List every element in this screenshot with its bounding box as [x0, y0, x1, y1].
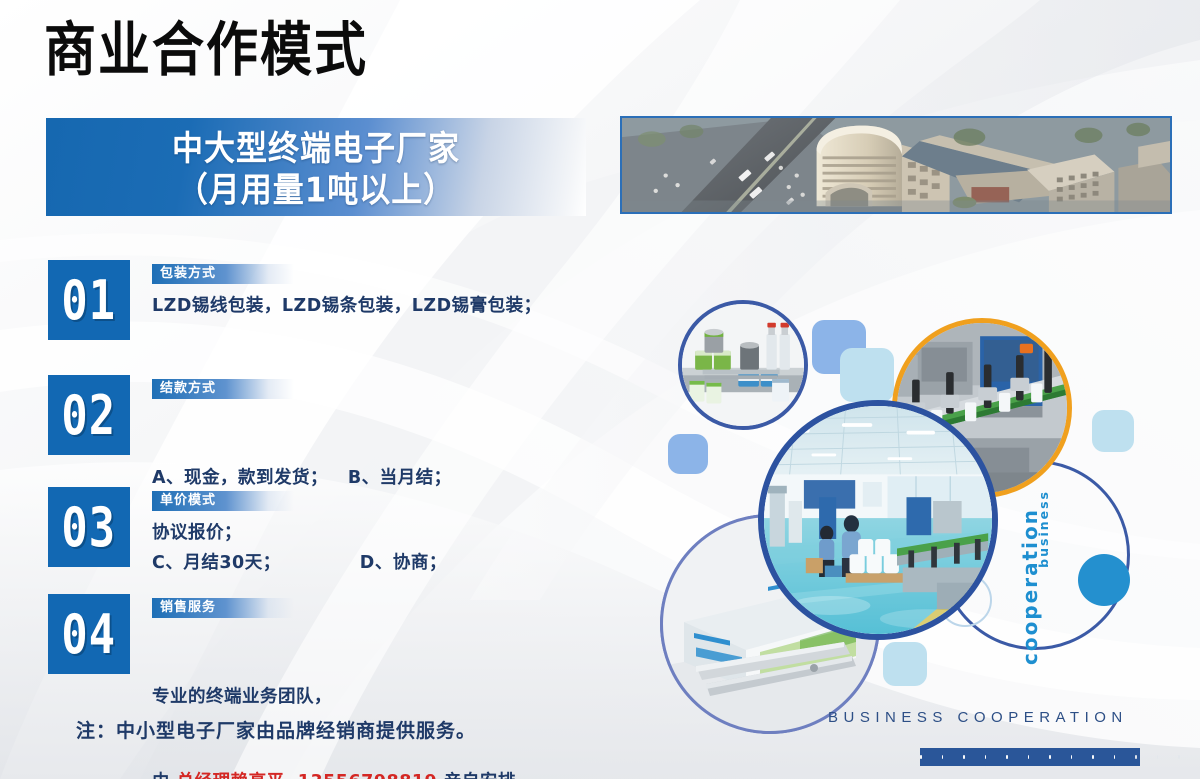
item-number: 04 [62, 602, 117, 666]
decorative-square-cyan-2 [1092, 410, 1134, 452]
dot [920, 755, 922, 759]
dot [963, 755, 965, 759]
item-number-box: 04 [48, 594, 130, 674]
item-number-box: 03 [48, 487, 130, 567]
dot [985, 755, 987, 759]
contact-phone: 13556798819 [298, 772, 437, 779]
banner-text-block: 中大型终端电子厂家 （月用量1吨以上） [86, 129, 546, 212]
product-circle-top [678, 300, 808, 430]
footnote: 注：中小型电子厂家由品牌经销商提供服务。 [76, 716, 476, 743]
item-number-box: 02 [48, 375, 130, 455]
item-number: 01 [62, 268, 117, 332]
decorative-dot-row [920, 748, 1200, 766]
item-body-line: C、月结30天； D、协商； [152, 549, 452, 577]
item-body-line: A、现金，款到发货； B、当月结； [152, 464, 452, 492]
dot [1006, 755, 1008, 759]
header-banner: 中大型终端电子厂家 （月用量1吨以上） [46, 118, 586, 216]
brand-en-label: BUSINESS COOPERATION [828, 709, 1128, 726]
dot [1092, 755, 1094, 759]
dot [1135, 755, 1137, 759]
item-tag-label: 结款方式 [152, 379, 294, 399]
dot [1071, 755, 1073, 759]
item-tag-label: 销售服务 [152, 598, 294, 618]
solder-products-illustration [682, 304, 804, 426]
decorative-square-cyan-1 [840, 348, 894, 402]
contact-prefix: 由 [152, 772, 177, 779]
factory-circle [758, 400, 998, 640]
dot [1028, 755, 1030, 759]
building-photo-illustration [622, 118, 1170, 212]
contact-suffix: 亲自安排。 [437, 772, 534, 779]
item-body-text: 专业的终端业务团队， 由 总经理赖高平 13556798819 亲自安排。 [152, 626, 534, 779]
item-tag-label: 单价模式 [152, 491, 294, 511]
item-number: 02 [62, 383, 117, 447]
item-body-line: 专业的终端业务团队， [152, 683, 534, 711]
banner-line-1: 中大型终端电子厂家 [86, 129, 546, 171]
building-photo [620, 116, 1172, 214]
page-title: 商业合作模式 [44, 22, 368, 80]
dot [1157, 755, 1159, 759]
item-tag-label: 包装方式 [152, 264, 294, 284]
decorative-square-cyan-3 [883, 642, 927, 686]
item-body-line-contact: 由 总经理赖高平 13556798819 亲自安排。 [152, 768, 534, 779]
dot [942, 755, 944, 759]
vertical-label-cooperation: cooperation [1018, 508, 1042, 665]
item-body-text: LZD锡线包装，LZD锡条包装，LZD锡膏包装； [152, 292, 542, 320]
banner-line-2: （月用量1吨以上） [86, 171, 546, 213]
item-number: 03 [62, 495, 117, 559]
contact-name: 总经理赖高平 [177, 772, 285, 779]
poster-canvas: 商业合作模式 中大型终端电子厂家 （月用量1吨以上） [0, 0, 1200, 779]
decorative-square-blue-2 [668, 434, 708, 474]
dot [1114, 755, 1116, 759]
factory-workshop-illustration [764, 406, 992, 634]
decorative-dot-solid [1078, 554, 1130, 606]
dot [1049, 755, 1051, 759]
photo-collage: business cooperation [640, 290, 1200, 710]
item-body-text: 协议报价； [152, 519, 242, 547]
item-number-box: 01 [48, 260, 130, 340]
dot [1178, 755, 1180, 759]
